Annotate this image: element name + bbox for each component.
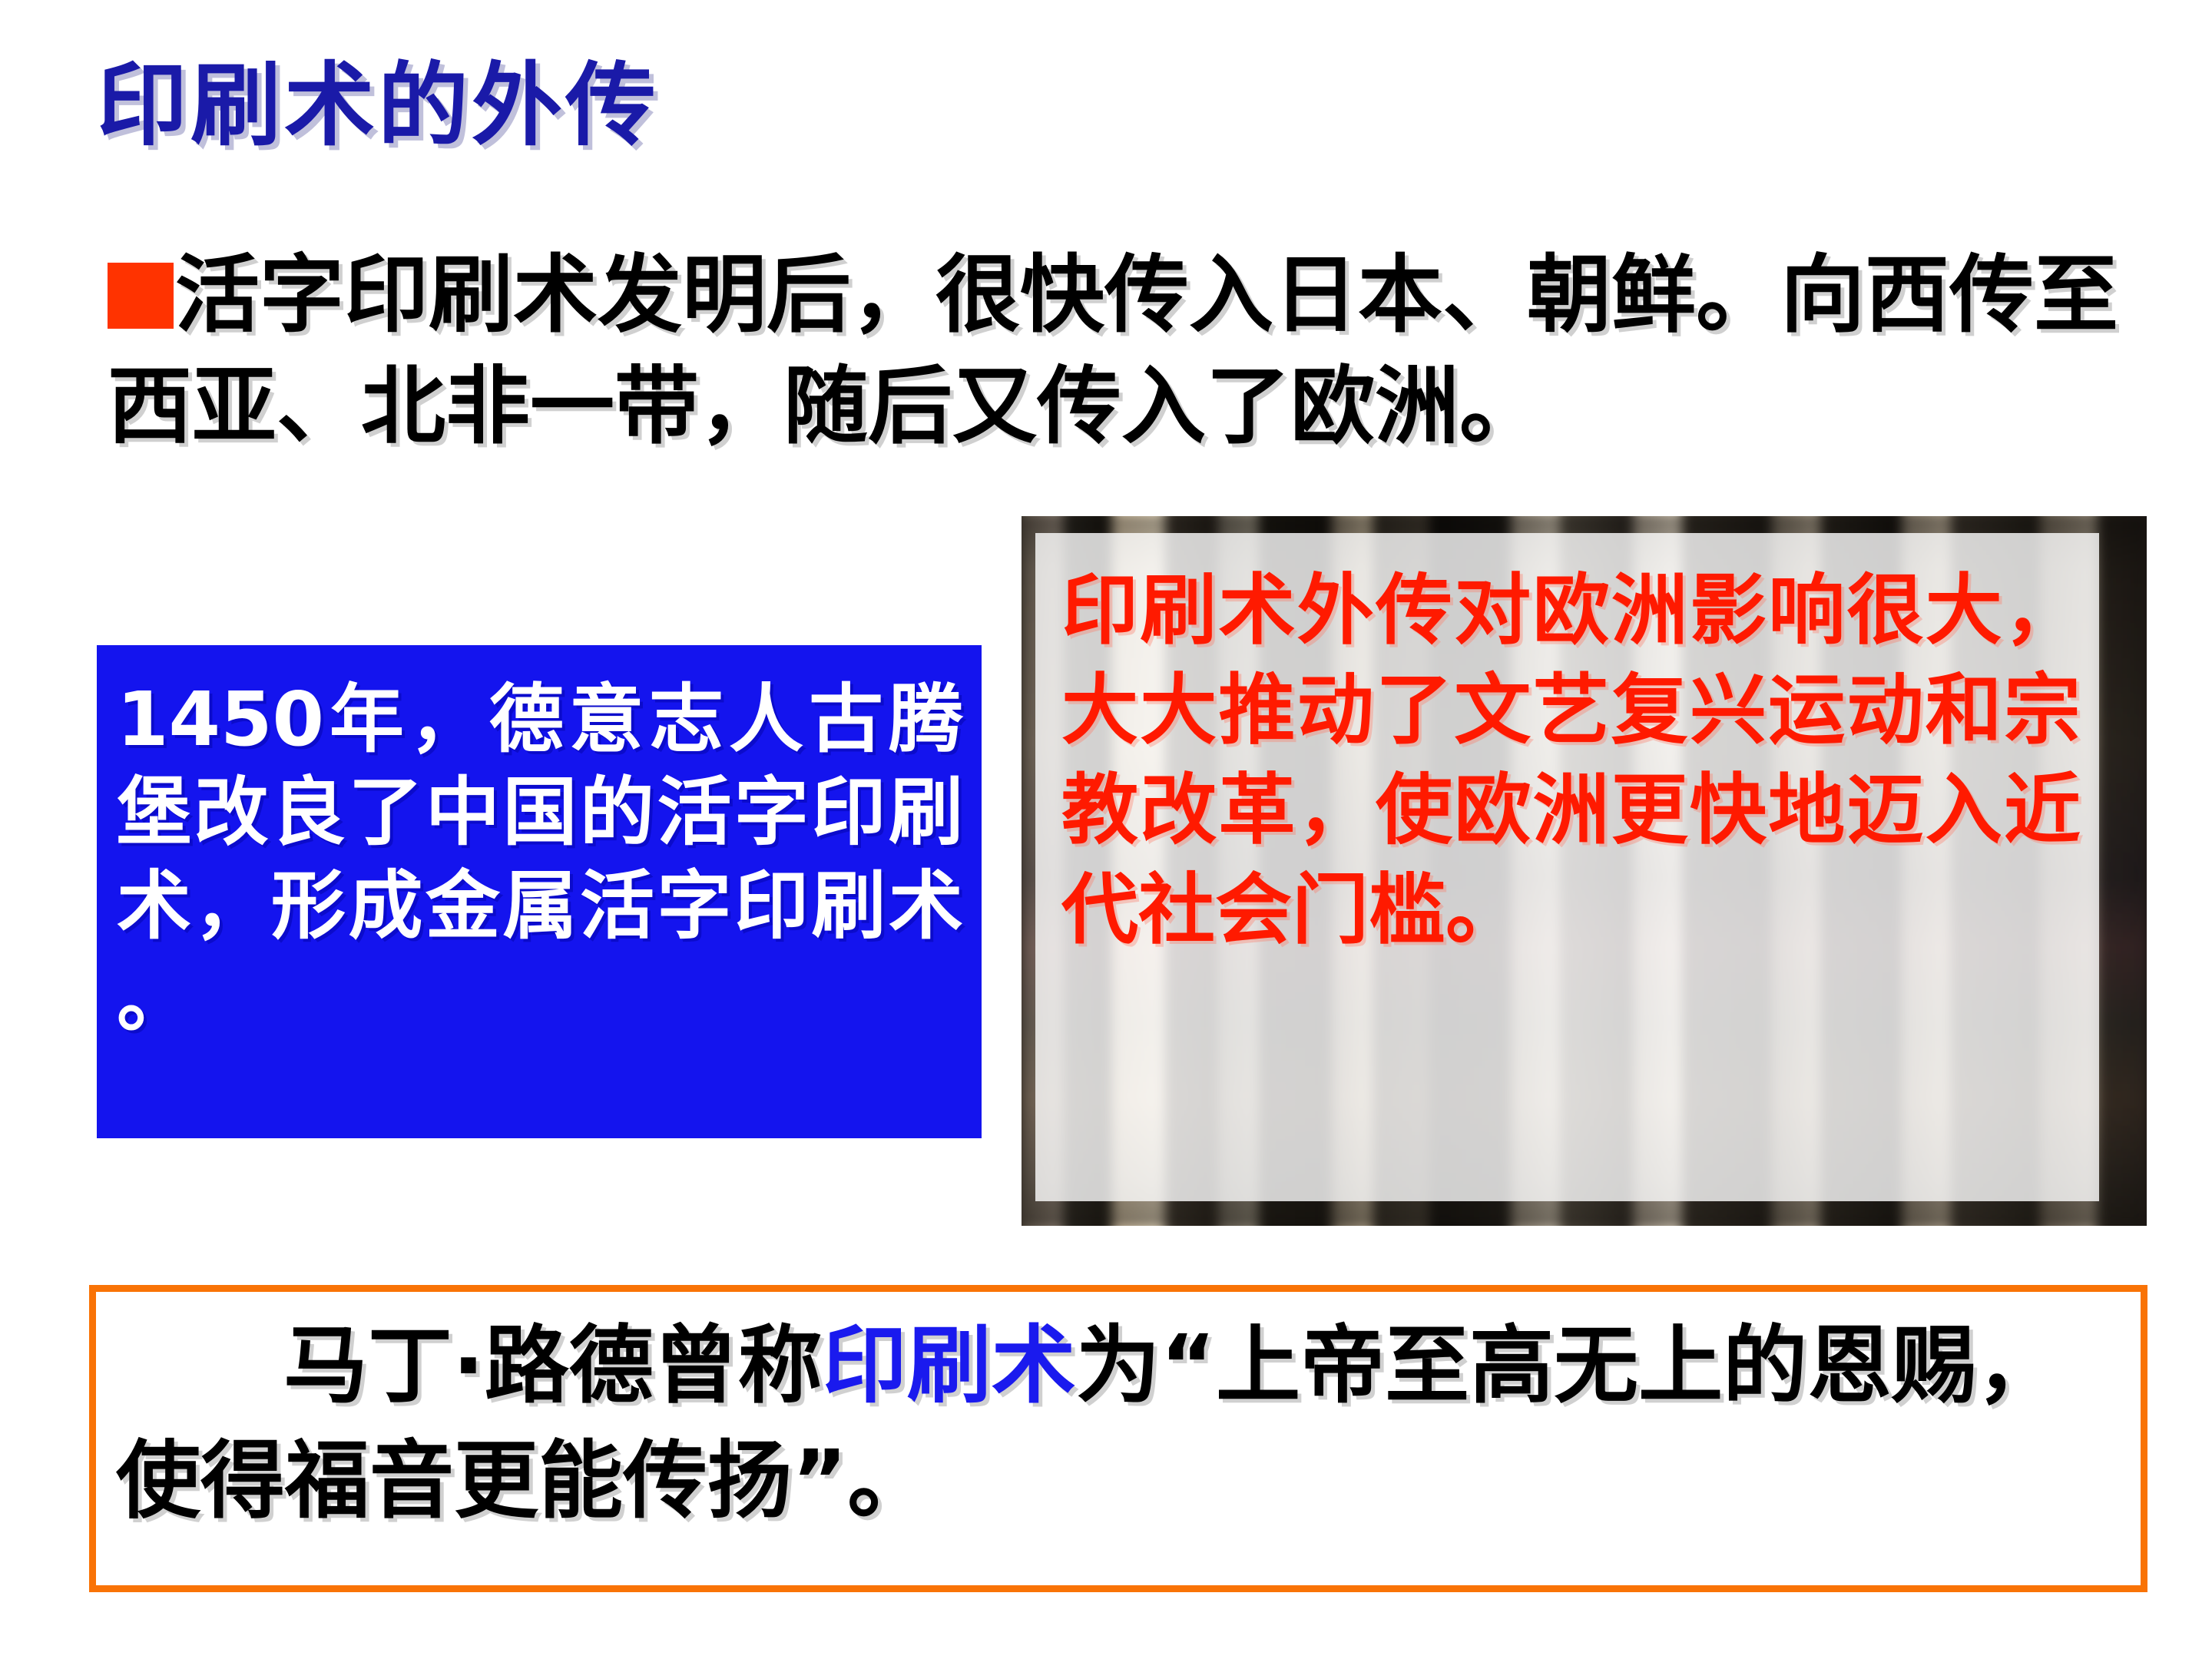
quote-highlight-term: 印刷术 [823, 1316, 1076, 1415]
quote-box: 马丁·路德曾称印刷术为“上帝至高无上的恩赐，使得福音更能传扬”。 [89, 1285, 2147, 1592]
bullet-paragraph: 活字印刷术发明后，很快传入日本、朝鲜。向西传至西亚、北非一带，随后又传入了欧洲。 [108, 240, 2151, 462]
photo-overlay-text: 印刷术外传对欧洲影响很大，大大推动了文艺复兴运动和宗教改革，使欧洲更快地迈入近代… [1061, 561, 2081, 960]
photo-panel: 印刷术外传对欧洲影响很大，大大推动了文艺复兴运动和宗教改革，使欧洲更快地迈入近代… [1022, 516, 2147, 1226]
red-square-bullet-icon [108, 263, 174, 329]
photo-white-overlay: 印刷术外传对欧洲影响很大，大大推动了文艺复兴运动和宗教改革，使欧洲更快地迈入近代… [1035, 533, 2099, 1201]
page-title: 印刷术的外传 [97, 60, 659, 151]
quote-part-one: 马丁·路德曾称 [283, 1316, 823, 1415]
blue-info-box: 1450年，德意志人古腾堡改良了中国的活字印刷术，形成金属活字印刷术 。 [97, 645, 982, 1138]
bullet-paragraph-text: 活字印刷术发明后，很快传入日本、朝鲜。向西传至西亚、北非一带，随后又传入了欧洲。 [108, 246, 2118, 455]
quote-box-text: 马丁·路德曾称印刷术为“上帝至高无上的恩赐，使得福音更能传扬”。 [116, 1309, 2118, 1538]
blue-info-box-text: 1450年，德意志人古腾堡改良了中国的活字印刷术，形成金属活字印刷术 。 [117, 673, 963, 1045]
